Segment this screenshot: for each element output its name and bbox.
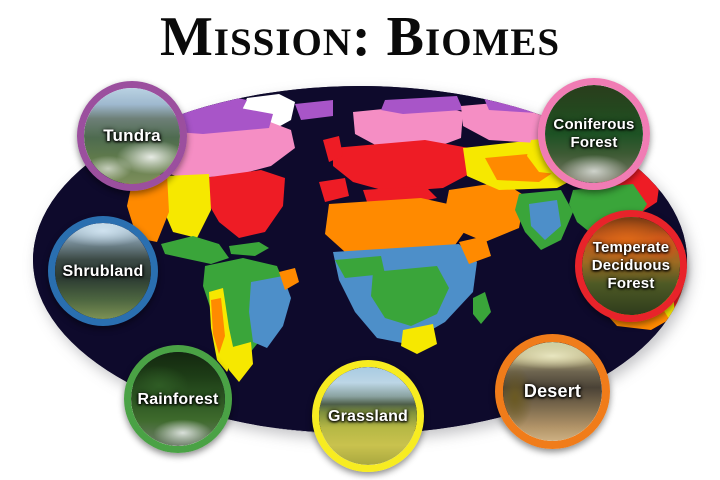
biome-label-temperate-deciduous-forest: TemperateDeciduousForest xyxy=(588,239,674,293)
biome-label-desert: Desert xyxy=(520,381,585,402)
biome-badge-rainforest[interactable]: Rainforest xyxy=(124,345,232,453)
biome-badge-desert[interactable]: Desert xyxy=(495,334,610,449)
biome-badge-tundra[interactable]: Tundra xyxy=(77,81,187,191)
biome-badge-coniferous-forest[interactable]: ConiferousForest xyxy=(538,78,650,190)
biome-label-coniferous-forest: ConiferousForest xyxy=(549,116,638,152)
biome-badge-shrubland[interactable]: Shrubland xyxy=(48,216,158,326)
biome-badge-temperate-deciduous-forest[interactable]: TemperateDeciduousForest xyxy=(575,210,687,322)
page-title: Mission: Biomes xyxy=(0,6,720,68)
biome-label-tundra: Tundra xyxy=(99,126,165,146)
poster-canvas: Mission: Biomes xyxy=(0,0,720,480)
nz xyxy=(683,336,687,354)
biome-badge-grassland[interactable]: Grassland xyxy=(312,360,424,472)
biome-label-shrubland: Shrubland xyxy=(59,262,148,281)
as-japan xyxy=(663,152,681,190)
biome-label-grassland: Grassland xyxy=(324,407,412,426)
biome-label-rainforest: Rainforest xyxy=(133,390,222,409)
